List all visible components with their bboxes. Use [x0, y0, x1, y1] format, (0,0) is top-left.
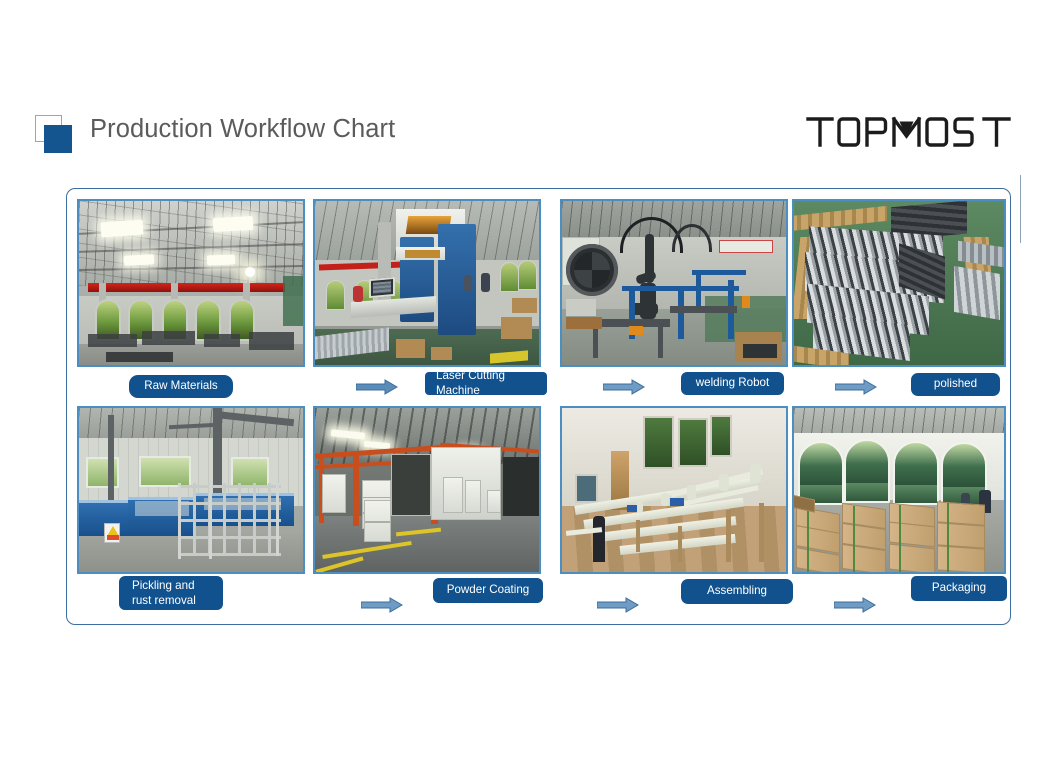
- workflow-row-1: Raw Materials: [67, 193, 1012, 400]
- warehouse-raw-materials-photo: [77, 199, 305, 367]
- arrow-welding-to-polished: [835, 379, 877, 395]
- page-title: Production Workflow Chart: [90, 115, 395, 144]
- label-laser-cutting-machine[interactable]: Laser Cutting Machine: [425, 372, 547, 395]
- slide-canvas: Production Workflow Chart: [0, 0, 1060, 762]
- label-pickling-rust-removal[interactable]: Pickling and rust removal: [119, 576, 223, 610]
- welding-robot-photo: [560, 199, 788, 367]
- assembling-photo: [560, 406, 788, 574]
- double-square-icon: [35, 115, 73, 153]
- arrow-assembling-to-packaging: [834, 597, 876, 613]
- header-vertical-rule: [1020, 175, 1021, 243]
- topmost-logo: [806, 112, 1012, 152]
- workflow-row-2: Pickling and rust removal: [67, 400, 1012, 607]
- laser-cutting-machine-photo: [313, 199, 541, 367]
- label-assembling[interactable]: Assembling: [681, 579, 793, 604]
- topmost-wordmark-svg: [806, 112, 984, 152]
- square-solid-shape: [44, 125, 72, 153]
- label-packaging[interactable]: Packaging: [911, 576, 1007, 601]
- workflow-frame: Raw Materials: [66, 188, 1011, 625]
- pickling-rust-removal-photo: [77, 406, 305, 574]
- slide-header: Production Workflow Chart: [0, 90, 1060, 160]
- arrow-powder-to-assembling: [597, 597, 639, 613]
- arrow-laser-to-welding: [603, 379, 645, 395]
- arrow-pickling-to-powder: [361, 597, 403, 613]
- polished-parts-photo: [792, 199, 1006, 367]
- topmost-final-t-svg: [982, 112, 1012, 152]
- powder-coating-photo: [313, 406, 541, 574]
- label-powder-coating[interactable]: Powder Coating: [433, 578, 543, 603]
- arrow-raw-to-laser: [356, 379, 398, 395]
- label-polished[interactable]: polished: [911, 373, 1000, 396]
- label-raw-materials[interactable]: Raw Materials: [129, 375, 233, 398]
- packaging-photo: [792, 406, 1006, 574]
- label-welding-robot[interactable]: welding Robot: [681, 372, 784, 395]
